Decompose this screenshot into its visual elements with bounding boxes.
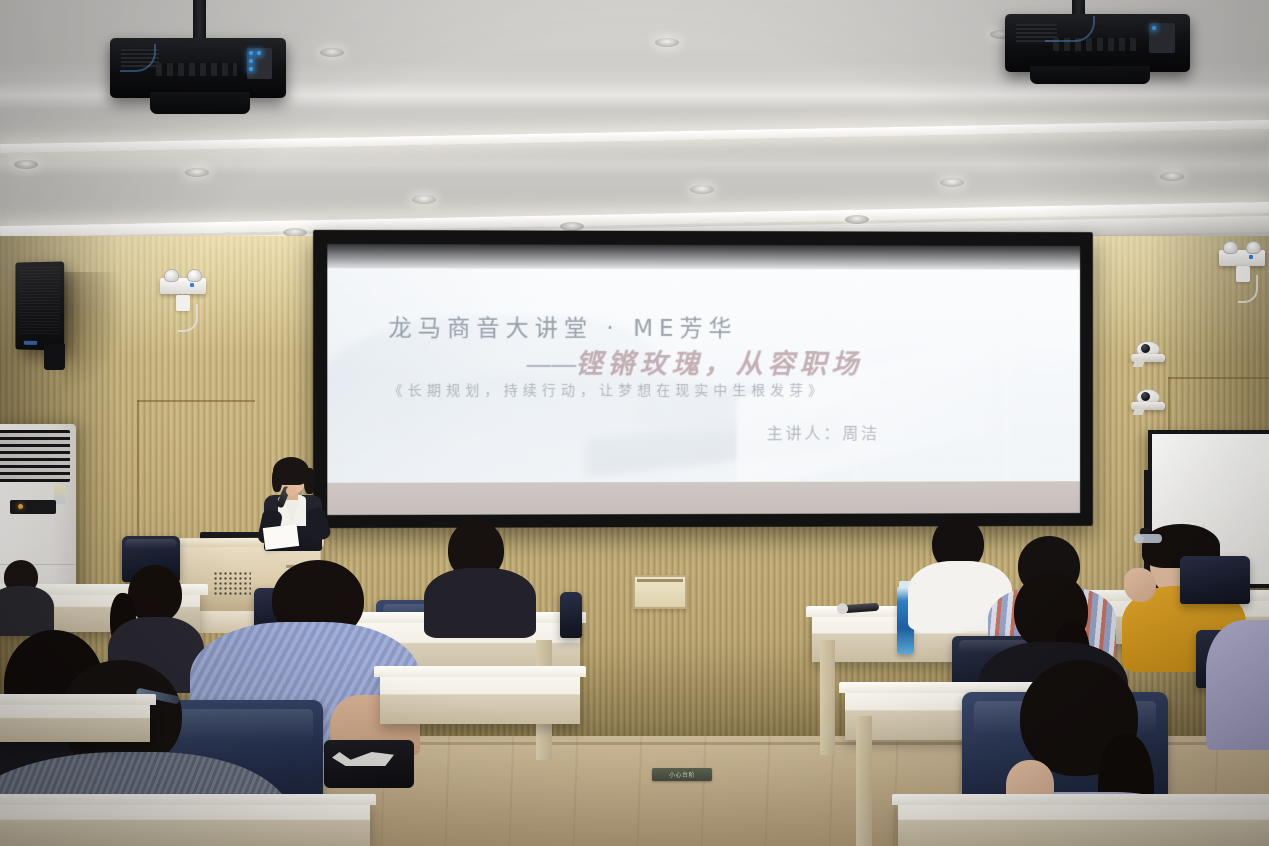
chair-highlight <box>125 539 176 549</box>
backpack <box>324 740 414 788</box>
screen-top-shading <box>327 244 1080 270</box>
slide-description: 《长期规划，持续行动，让梦想在现实中生根发芽》 <box>388 380 827 400</box>
slide-text-block: 龙马商音大讲堂 · ME芳华 ——铿锵玫瑰，从容职场 《长期规划，持续行动，让梦… <box>327 244 1080 483</box>
wall-access-panel[interactable] <box>633 575 687 609</box>
backpack-logo <box>332 752 394 766</box>
presenter-hair <box>304 468 315 494</box>
desk-top <box>892 794 1269 805</box>
camera-lens-icon <box>1141 392 1150 401</box>
camera-arm <box>1133 407 1146 415</box>
emergency-light-left <box>160 278 206 294</box>
presenter-hair <box>272 468 282 492</box>
speaker-bracket <box>44 344 65 370</box>
projector-indicator-panel <box>247 48 272 79</box>
emergency-lamp-icon <box>187 269 202 282</box>
desk <box>380 672 580 724</box>
camera-lens-icon <box>1141 344 1150 353</box>
speaker-badge <box>24 341 37 345</box>
desk <box>898 800 1269 846</box>
person-hand <box>1124 568 1156 602</box>
chair[interactable] <box>1180 556 1250 604</box>
presentation-slide: 龙马商音大讲堂 · ME芳华 ——铿锵玫瑰，从容职场 《长期规划，持续行动，让梦… <box>327 244 1080 483</box>
audience-person <box>1206 620 1269 750</box>
speaker-grille <box>19 267 60 335</box>
slide-subtitle-dash: —— <box>525 349 575 380</box>
ac-vent-grille <box>0 430 70 482</box>
microphone-head-icon <box>837 603 849 615</box>
slide-subtitle-text: 铿锵玫瑰，从容职场 <box>575 349 863 380</box>
projector-ports <box>156 63 237 76</box>
wall-door-seam <box>137 400 255 402</box>
emergency-lamp-icon <box>1223 241 1238 254</box>
downlight-icon <box>320 48 344 57</box>
chair[interactable] <box>560 592 582 638</box>
audience-person <box>0 560 56 630</box>
wall-speaker <box>15 261 64 350</box>
person-head <box>128 565 182 623</box>
person-torso <box>1206 620 1269 750</box>
ac-display-panel[interactable] <box>10 500 56 514</box>
slide-host: 主讲人：周洁 <box>767 420 880 444</box>
downlight-icon <box>845 215 869 224</box>
projector-left <box>110 38 286 98</box>
projector-lens-housing-left <box>150 92 250 114</box>
downlight-icon <box>185 168 209 177</box>
projector-indicator-panel <box>1149 23 1175 53</box>
lecture-hall-photo: 龙马商音大讲堂 · ME芳华 ——铿锵玫瑰，从容职场 《长期规划，持续行动，让梦… <box>0 0 1269 846</box>
screen-surface: 龙马商音大讲堂 · ME芳华 ——铿锵玫瑰，从容职场 《长期规划，持续行动，让梦… <box>327 244 1080 515</box>
projector-right <box>1005 14 1190 72</box>
desk <box>0 800 370 846</box>
screen-bottom-band <box>327 481 1080 515</box>
projector-led-icon <box>249 51 253 55</box>
person-torso <box>424 568 536 638</box>
emergency-indicator-icon <box>190 283 194 287</box>
emergency-light-right <box>1219 250 1265 266</box>
desk-leg <box>856 716 872 846</box>
desk-top <box>374 666 586 677</box>
projection-screen: 龙马商音大讲堂 · ME芳华 ——铿锵玫瑰，从容职场 《长期规划，持续行动，让梦… <box>313 230 1093 528</box>
projector-led-icon <box>257 51 261 55</box>
presenter <box>258 460 328 550</box>
eyeglasses <box>1134 534 1162 543</box>
wall-door-seam <box>1168 377 1269 379</box>
ac-power-indicator-icon <box>18 504 23 509</box>
ptz-camera-lower <box>1131 389 1165 415</box>
desk-leg <box>820 640 835 755</box>
emergency-lamp-icon <box>1246 241 1261 254</box>
projector-lens-housing-right <box>1030 66 1150 84</box>
downlight-icon <box>940 178 964 187</box>
floor-caution-plaque: 小心台阶 <box>652 768 712 781</box>
downlight-icon <box>655 38 679 47</box>
presenter-notes <box>263 524 299 550</box>
emergency-lamp-icon <box>164 269 179 282</box>
downlight-icon <box>690 185 714 194</box>
ptz-camera-upper <box>1131 341 1165 367</box>
desk <box>0 700 150 742</box>
camera-arm <box>1133 359 1146 367</box>
downlight-icon <box>412 195 436 204</box>
audience-person <box>420 520 540 635</box>
desk-top <box>0 694 156 705</box>
presenter-hand <box>286 486 297 496</box>
person-torso <box>0 586 54 636</box>
downlight-icon <box>1160 172 1184 181</box>
speaker-shadow <box>62 272 124 392</box>
projector-led-icon <box>1152 26 1156 30</box>
projector-led-icon <box>249 59 253 63</box>
projector-mount-left <box>193 0 206 42</box>
wall-panel-slot <box>637 579 683 582</box>
projector-led-icon <box>249 67 253 71</box>
downlight-icon <box>14 160 38 169</box>
desk-top <box>0 794 376 805</box>
slide-subtitle: ——铿锵玫瑰，从容职场 <box>525 342 863 381</box>
slide-title: 龙马商音大讲堂 · ME芳华 <box>388 308 737 342</box>
emergency-indicator-icon <box>1249 255 1253 259</box>
